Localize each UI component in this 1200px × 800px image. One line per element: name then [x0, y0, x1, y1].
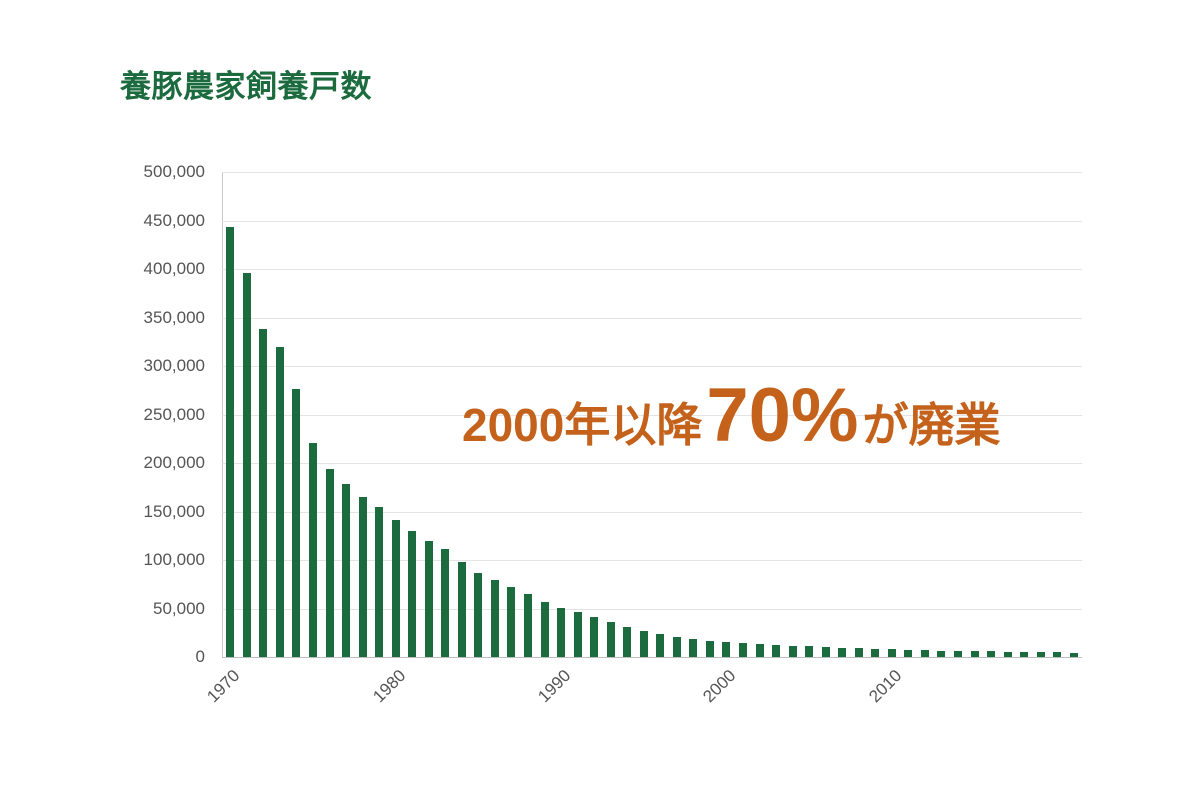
annotation-tail-text: が廃業	[862, 399, 1000, 451]
y-axis-tick-label: 50,000	[0, 599, 205, 619]
y-axis-tick-label: 100,000	[0, 550, 205, 570]
bar[interactable]	[309, 443, 317, 657]
annotation-lead-text: 2000年以降	[462, 399, 702, 451]
x-axis-tick-label: 2010	[859, 666, 906, 713]
x-axis-tick-label: 1980	[363, 666, 410, 713]
gridline	[222, 657, 1082, 658]
bar[interactable]	[326, 469, 334, 657]
bar[interactable]	[607, 622, 615, 657]
bar[interactable]	[392, 520, 400, 657]
y-axis-tick-label: 400,000	[0, 259, 205, 279]
y-axis-tick-label: 0	[0, 647, 205, 667]
x-axis-tick-label: 1970	[198, 666, 245, 713]
bar[interactable]	[474, 573, 482, 657]
page-title: 養豚農家飼養戸数	[120, 68, 372, 105]
bar[interactable]	[822, 647, 830, 657]
bar[interactable]	[292, 389, 300, 657]
bar[interactable]	[425, 541, 433, 657]
bar[interactable]	[226, 227, 234, 657]
bar[interactable]	[722, 642, 730, 657]
bar[interactable]	[1020, 652, 1028, 657]
bar[interactable]	[524, 594, 532, 657]
bar[interactable]	[243, 273, 251, 657]
bar[interactable]	[441, 549, 449, 657]
bar[interactable]	[557, 608, 565, 657]
chart-annotation: 2000年以降70%が廃業	[462, 378, 1000, 454]
bar[interactable]	[888, 649, 896, 657]
bar[interactable]	[904, 650, 912, 657]
bar[interactable]	[855, 648, 863, 657]
bar[interactable]	[954, 651, 962, 657]
bar[interactable]	[689, 639, 697, 657]
x-axis-tick-label: 2000	[694, 666, 741, 713]
y-axis-tick-label: 300,000	[0, 356, 205, 376]
bar[interactable]	[590, 617, 598, 657]
bar[interactable]	[541, 602, 549, 657]
bar[interactable]	[871, 649, 879, 657]
bar[interactable]	[408, 531, 416, 657]
bar[interactable]	[342, 484, 350, 657]
bar[interactable]	[987, 651, 995, 657]
y-axis-tick-label: 200,000	[0, 453, 205, 473]
bar[interactable]	[359, 497, 367, 657]
y-axis-tick-label: 150,000	[0, 502, 205, 522]
bar[interactable]	[375, 507, 383, 657]
annotation-highlight-value: 70%	[702, 373, 862, 458]
bar[interactable]	[623, 627, 631, 657]
bar[interactable]	[574, 612, 582, 657]
bar[interactable]	[1070, 653, 1078, 657]
bar[interactable]	[276, 347, 284, 657]
bar[interactable]	[673, 637, 681, 657]
x-axis-tick-label: 1990	[529, 666, 576, 713]
bar[interactable]	[491, 580, 499, 657]
bar[interactable]	[739, 643, 747, 657]
y-axis-tick-label: 350,000	[0, 308, 205, 328]
bar[interactable]	[1037, 652, 1045, 657]
y-axis-tick-label: 500,000	[0, 162, 205, 182]
bar[interactable]	[1004, 652, 1012, 657]
y-axis-tick-label: 250,000	[0, 405, 205, 425]
bar[interactable]	[971, 651, 979, 657]
bar[interactable]	[259, 329, 267, 657]
bar[interactable]	[789, 646, 797, 657]
y-axis-tick-label: 450,000	[0, 211, 205, 231]
bar[interactable]	[656, 634, 664, 657]
bar[interactable]	[1053, 652, 1061, 657]
bar[interactable]	[756, 644, 764, 657]
bar[interactable]	[706, 641, 714, 657]
bar[interactable]	[458, 562, 466, 657]
bar[interactable]	[772, 645, 780, 657]
bar[interactable]	[640, 631, 648, 657]
bar[interactable]	[937, 651, 945, 657]
bar[interactable]	[805, 646, 813, 657]
chart-figure: 養豚農家飼養戸数 050,000100,000150,000200,000250…	[0, 0, 1200, 800]
bar[interactable]	[838, 648, 846, 657]
bar[interactable]	[921, 650, 929, 657]
bar[interactable]	[507, 587, 515, 657]
